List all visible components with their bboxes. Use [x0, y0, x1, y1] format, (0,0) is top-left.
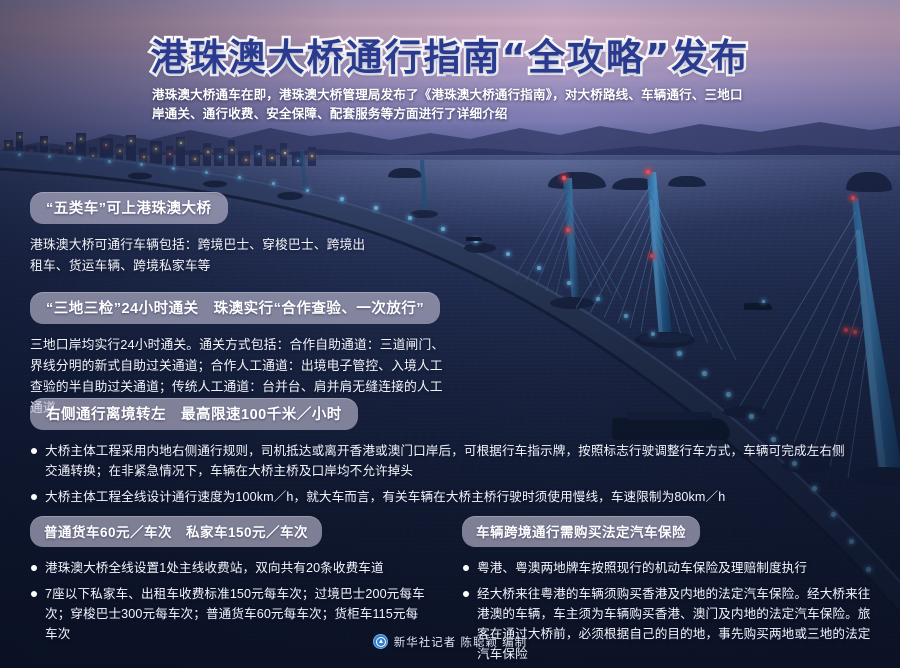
list-item: 大桥主体工程全线设计通行速度为100km／h，就大车而言，有关车辆在大桥主桥行驶…: [30, 487, 850, 507]
section-heading-tolls: 普通货车60元／车次 私家车150元／车次: [30, 516, 322, 547]
infographic-content: 港珠澳大桥通行指南“全攻略”发布 港珠澳大桥通车在即，港珠澳大桥管理局发布了《港…: [0, 0, 900, 668]
section-vehicle-types: “五类车”可上港珠澳大桥 港珠澳大桥可通行车辆包括：跨境巴士、穿梭巴士、跨境出租…: [30, 192, 430, 276]
bullet-list-driving-rules: 大桥主体工程采用内地右侧通行规则，司机抵达或离开香港或澳门口岸后，可根据行车指示…: [30, 441, 850, 507]
xinhua-logo-icon: [373, 634, 388, 649]
credit-line: 新华社记者 陈聪颖 编制: [0, 634, 900, 650]
section-tolls: 普通货车60元／车次 私家车150元／车次 港珠澳大桥全线设置1处主线收费站，双…: [30, 516, 440, 650]
credit-text: 新华社记者 陈聪颖 编制: [394, 634, 527, 650]
list-item: 港珠澳大桥全线设置1处主线收费站，双向共有20条收费车道: [30, 558, 430, 578]
page-subtitle: 港珠澳大桥通车在即，港珠澳大桥管理局发布了《港珠澳大桥通行指南》，对大桥路线、车…: [152, 86, 752, 124]
bullet-list-tolls: 港珠澳大桥全线设置1处主线收费站，双向共有20条收费车道 7座以下私家车、出租车…: [30, 558, 430, 644]
infographic-poster: 港珠澳大桥通行指南“全攻略”发布 港珠澳大桥通车在即，港珠澳大桥管理局发布了《港…: [0, 0, 900, 668]
list-item: 经大桥来往粤港的车辆须购买香港及内地的法定汽车保险。经大桥来往港澳的车辆，车主须…: [462, 584, 874, 664]
section-heading-vehicle-types: “五类车”可上港珠澳大桥: [30, 192, 228, 224]
section-heading-insurance: 车辆跨境通行需购买法定汽车保险: [462, 516, 700, 547]
list-item: 大桥主体工程采用内地右侧通行规则，司机抵达或离开香港或澳门口岸后，可根据行车指示…: [30, 441, 850, 481]
section-heading-customs: “三地三检”24小时通关 珠澳实行“合作查验、一次放行”: [30, 292, 440, 324]
list-item: 粤港、粤澳两地牌车按照现行的机动车保险及理赔制度执行: [462, 558, 874, 578]
section-driving-rules: 右侧通行离境转左 最高限速100千米／小时 大桥主体工程采用内地右侧通行规则，司…: [30, 398, 870, 513]
section-body-vehicle-types: 港珠澳大桥可通行车辆包括：跨境巴士、穿梭巴士、跨境出租车、货运车辆、跨境私家车等: [30, 234, 375, 276]
page-title: 港珠澳大桥通行指南“全攻略”发布: [0, 27, 900, 81]
section-heading-driving-rules: 右侧通行离境转左 最高限速100千米／小时: [30, 398, 358, 430]
